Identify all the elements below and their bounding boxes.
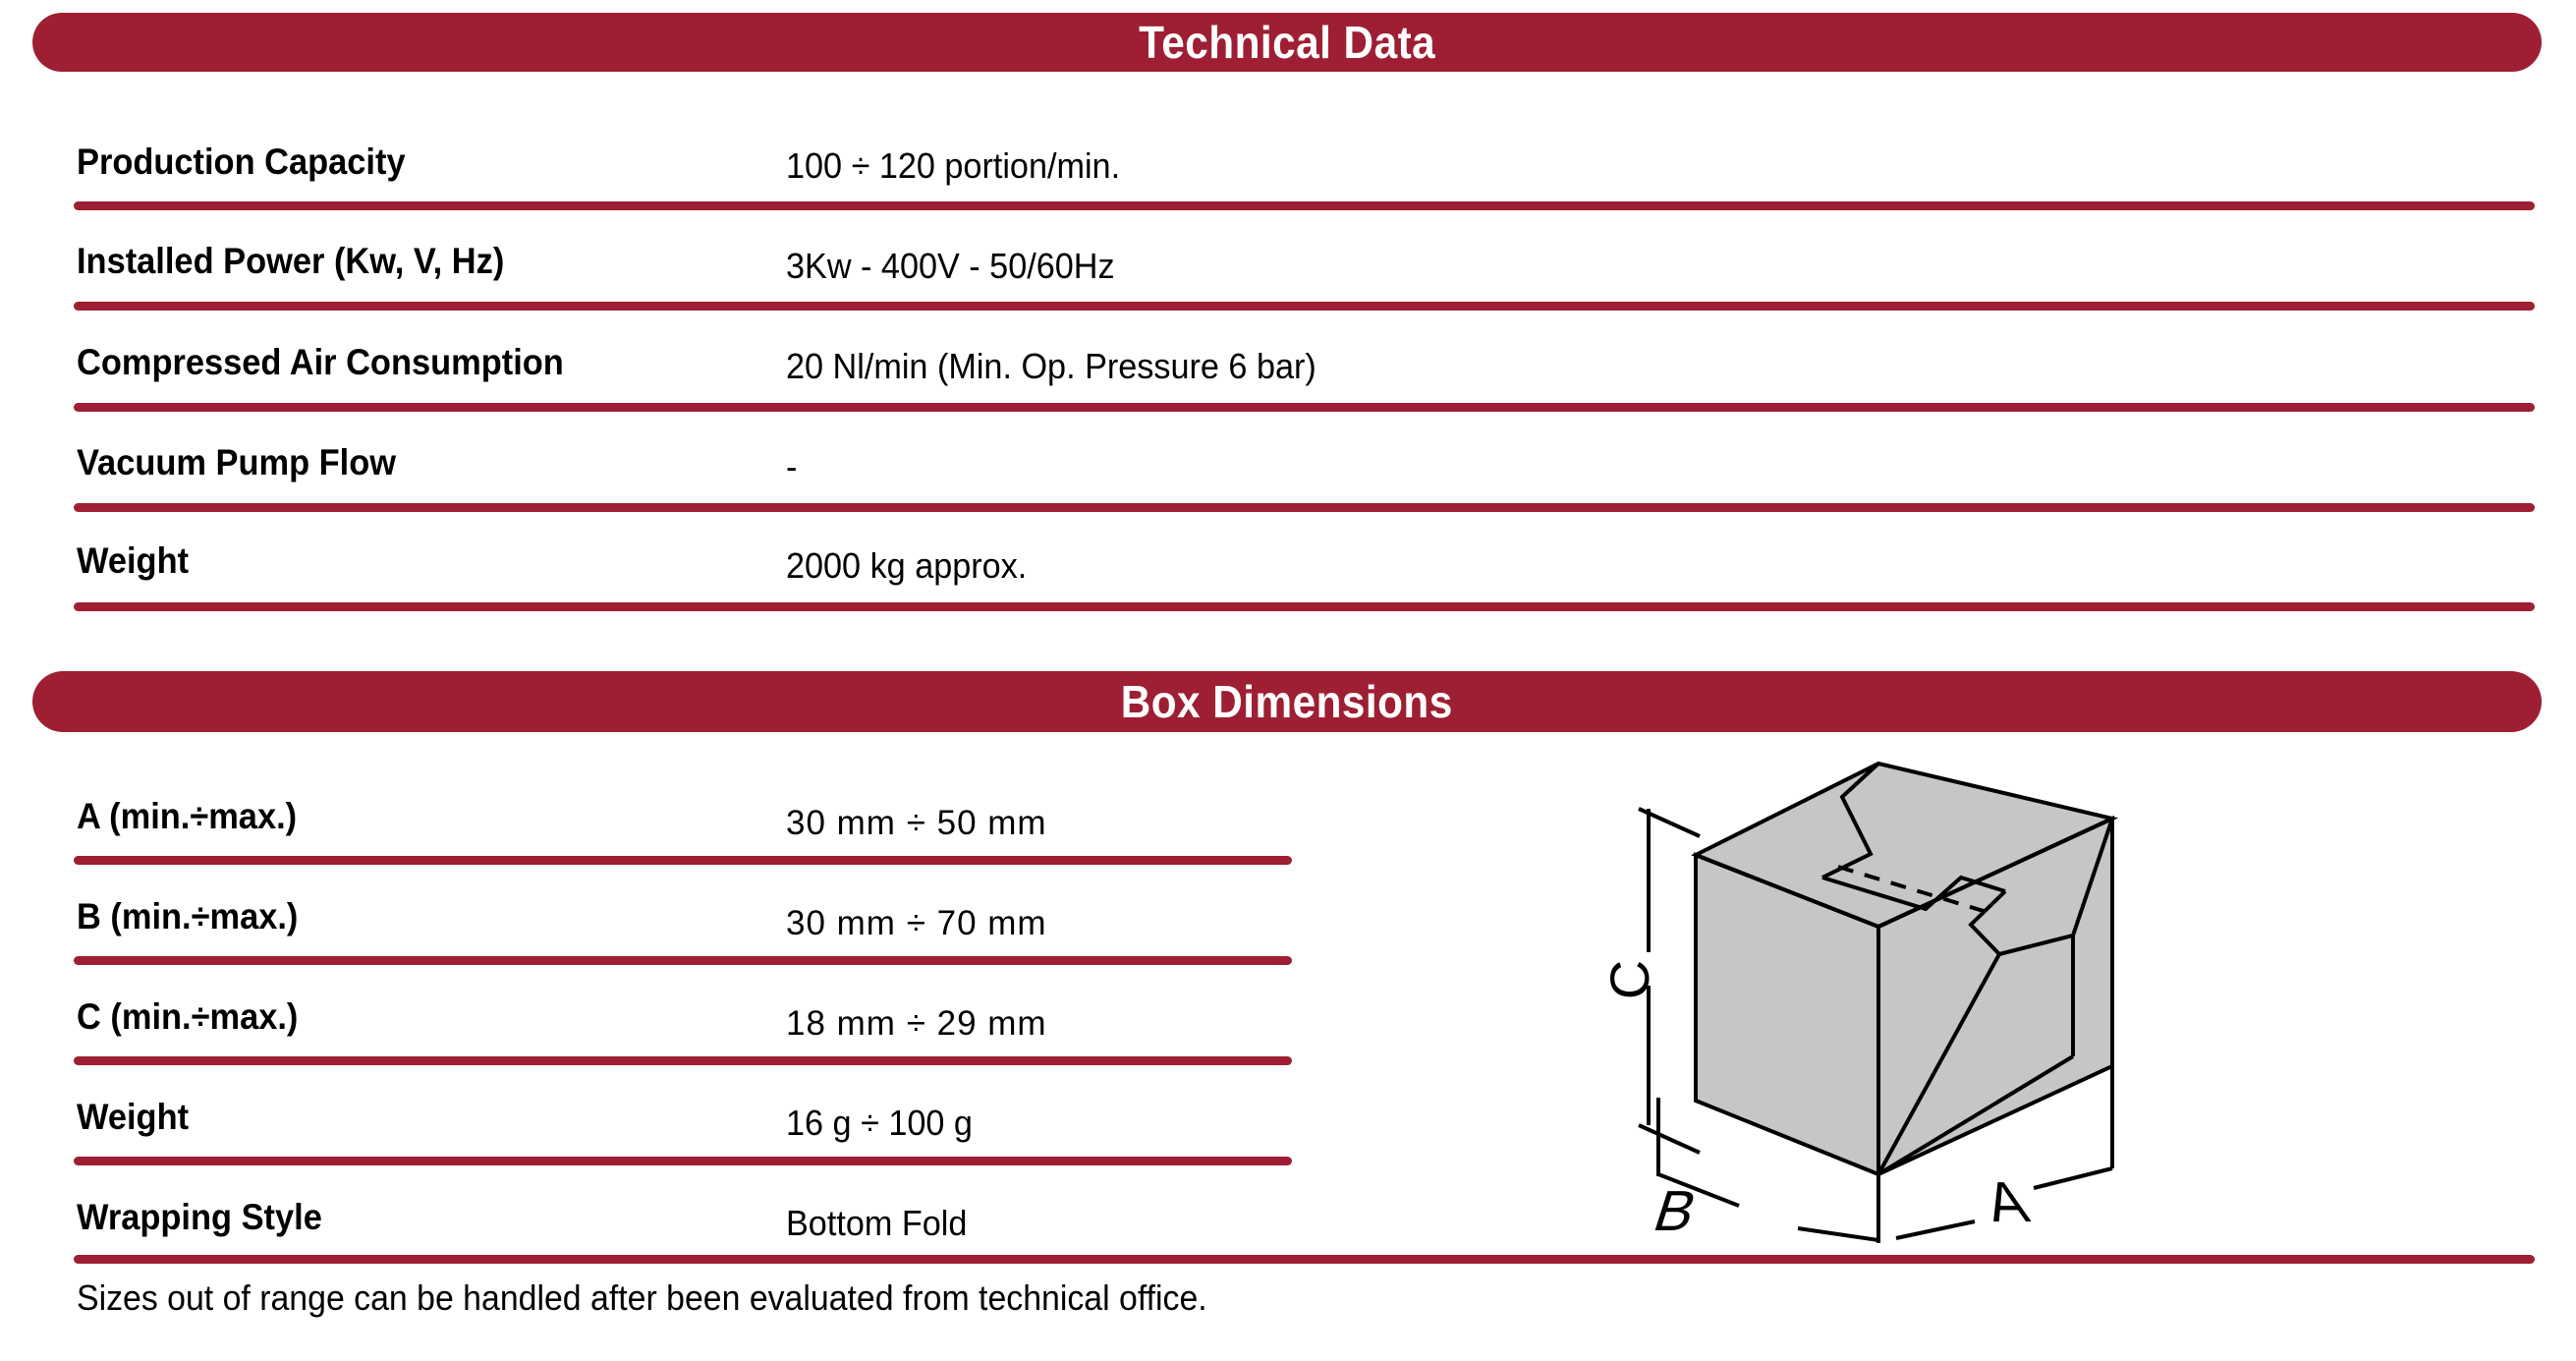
row-label: Wrapping Style: [77, 1197, 322, 1238]
row-separator: [74, 403, 2535, 412]
box-dimensions-diagram: C B A: [1601, 752, 2211, 1243]
row-label: C (min.÷max.): [77, 996, 298, 1038]
row-value: 20 Nl/min (Min. Op. Pressure 6 bar): [786, 346, 1316, 387]
section-header-technical-data: Technical Data: [32, 13, 2542, 72]
row-separator: [74, 302, 2535, 311]
section-header-box-dimensions: Box Dimensions: [32, 671, 2542, 732]
row-label: Compressed Air Consumption: [77, 342, 564, 383]
row-label: Weight: [77, 540, 189, 582]
row-value: 3Kw - 400V - 50/60Hz: [786, 246, 1115, 287]
row-separator: [74, 1056, 1292, 1065]
row-separator: [74, 956, 1292, 965]
row-label: Vacuum Pump Flow: [77, 442, 396, 483]
row-label: A (min.÷max.): [77, 796, 297, 837]
dim-b-arrow-right: [1798, 1228, 1878, 1240]
row-separator: [74, 1255, 2535, 1264]
technical-datasheet: Technical Data Production Capacity 100 ÷…: [0, 0, 2576, 1361]
dim-label-b: B: [1647, 1178, 1706, 1242]
footer-note: Sizes out of range can be handled after …: [77, 1277, 1207, 1319]
row-value: -: [786, 446, 797, 487]
row-label: B (min.÷max.): [77, 896, 298, 937]
row-label: Weight: [77, 1097, 189, 1138]
row-separator: [74, 1157, 1292, 1165]
row-value: Bottom Fold: [786, 1203, 967, 1244]
row-label: Installed Power (Kw, V, Hz): [77, 241, 504, 282]
section-title: Technical Data: [1139, 16, 1435, 69]
row-separator: [74, 856, 1292, 865]
row-value: 30 mm ÷ 70 mm: [786, 904, 1047, 943]
dim-label-c: C: [1601, 960, 1660, 999]
row-value: 30 mm ÷ 50 mm: [786, 804, 1047, 843]
section-title: Box Dimensions: [1121, 675, 1453, 728]
row-value: 2000 kg approx.: [786, 545, 1027, 587]
dim-a-arrow-left: [1896, 1221, 1975, 1238]
dim-label-a: A: [1978, 1169, 2036, 1234]
row-separator: [74, 201, 2535, 210]
row-value: 16 g ÷ 100 g: [786, 1103, 973, 1144]
row-separator: [74, 503, 2535, 512]
dim-a-arrow-right: [2034, 1168, 2112, 1188]
row-separator: [74, 602, 2535, 611]
dim-c-ext-bottom: [1639, 1125, 1700, 1153]
row-value: 18 mm ÷ 29 mm: [786, 1004, 1047, 1044]
row-value: 100 ÷ 120 portion/min.: [786, 145, 1120, 187]
row-label: Production Capacity: [77, 142, 406, 183]
